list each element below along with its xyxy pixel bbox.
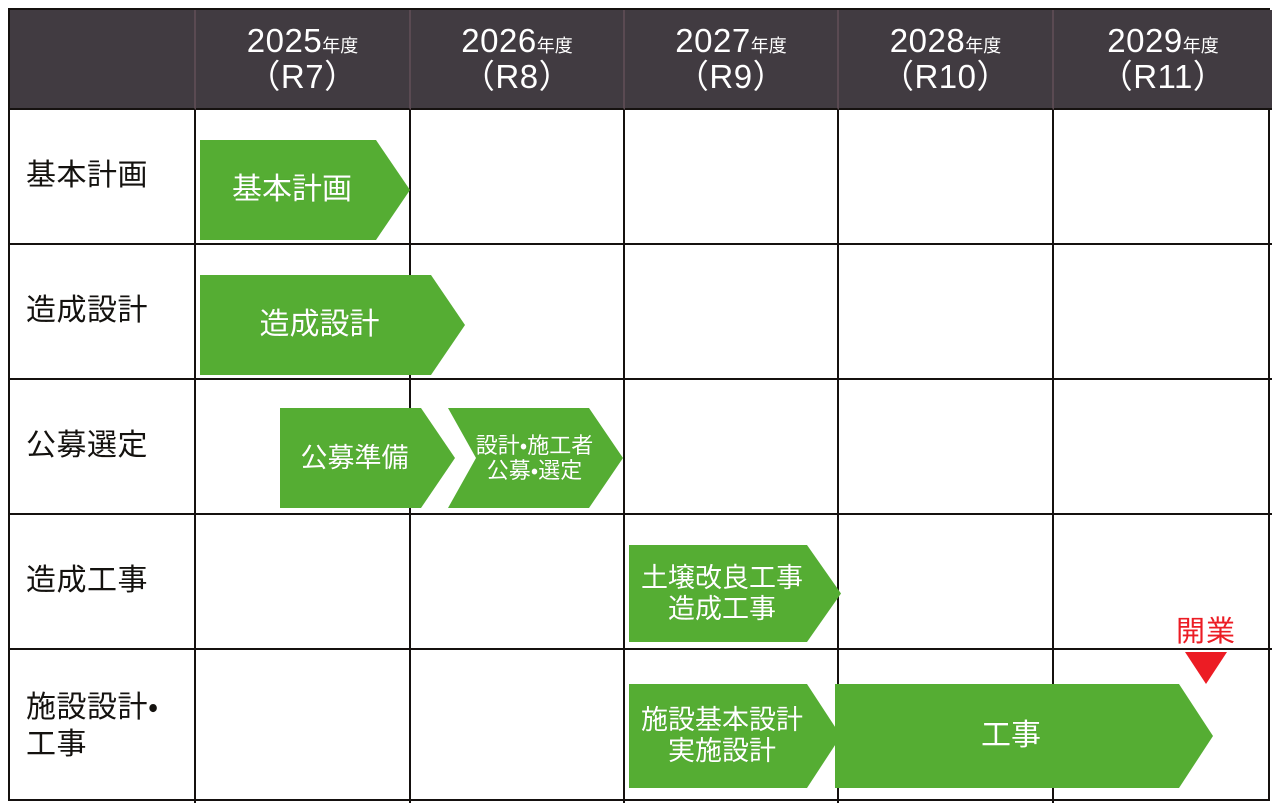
header-reiwa-r7: （R7） <box>247 60 357 95</box>
gantt-bar-label: 造成設計 <box>260 308 380 342</box>
row-label-text: 施設設計・工事 <box>26 690 159 763</box>
gantt-bar-label: 土壌改良工事造成工事 <box>641 563 803 625</box>
header-year-2028: 2028年度 <box>890 24 1001 59</box>
cell-r2-c2027 <box>625 245 839 380</box>
row-label-zosei-sekkei: 造成設計 <box>10 245 196 380</box>
cell-r4-c2028 <box>839 515 1054 650</box>
cell-r4-c2026 <box>411 515 625 650</box>
gantt-bar-dojo-kairyo-zosei-koji[interactable]: 土壌改良工事造成工事 <box>629 545 841 642</box>
row-label-text: 公募選定 <box>26 428 148 465</box>
row-label-text: 造成設計 <box>26 293 148 330</box>
cell-r5-c2025 <box>196 650 411 803</box>
row-label-zosei-koji: 造成工事 <box>10 515 196 650</box>
gantt-bar-label: 基本計画 <box>232 173 352 207</box>
cell-r5-c2026 <box>411 650 625 803</box>
header-year-2027: 2027年度 <box>675 24 786 59</box>
cell-r1-c2028 <box>839 110 1054 245</box>
header-year-2026: 2026年度 <box>461 24 572 59</box>
milestone-kaigyo[interactable]: 開業 <box>1176 618 1236 684</box>
header-year-2025: 2025年度 <box>247 24 358 59</box>
gantt-bar-label: 設計・施工者公募・選定 <box>476 433 593 483</box>
cell-r1-c2029 <box>1054 110 1272 245</box>
cell-r2-c2029 <box>1054 245 1272 380</box>
cell-r1-c2026 <box>411 110 625 245</box>
cell-r3-c2028 <box>839 380 1054 515</box>
row-label-kobo-sentei: 公募選定 <box>10 380 196 515</box>
row-label-shisetsu-sekkei-koji: 施設設計・工事 <box>10 650 196 803</box>
header-reiwa-r11: （R11） <box>1100 60 1227 95</box>
header-col-2028: 2028年度 （R10） <box>839 10 1054 110</box>
header-reiwa-r10: （R10） <box>881 60 1010 95</box>
cell-r4-c2029 <box>1054 515 1272 650</box>
cell-r1-c2027 <box>625 110 839 245</box>
gantt-bar-kihon-keikaku[interactable]: 基本計画 <box>200 140 410 240</box>
header-reiwa-r8: （R8） <box>462 60 572 95</box>
gantt-bar-koji[interactable]: 工事 <box>835 684 1213 788</box>
header-col-2025: 2025年度 （R7） <box>196 10 411 110</box>
milestone-label: 開業 <box>1176 618 1236 647</box>
gantt-bar-label: 公募準備 <box>301 443 409 474</box>
row-label-kihon-keikaku: 基本計画 <box>10 110 196 245</box>
cell-r3-c2029 <box>1054 380 1272 515</box>
row-label-text: 基本計画 <box>26 158 148 195</box>
gantt-bar-zosei-sekkei[interactable]: 造成設計 <box>200 275 465 375</box>
header-corner-cell <box>10 10 196 110</box>
header-reiwa-r9: （R9） <box>676 60 786 95</box>
schedule-table: 2025年度 （R7） 2026年度 （R8） 2027年度 （R9） 2028… <box>8 8 1270 801</box>
header-year-2029: 2029年度 <box>1107 24 1218 59</box>
schedule-grid: 2025年度 （R7） 2026年度 （R8） 2027年度 （R9） 2028… <box>8 8 1270 801</box>
gantt-bar-shisetsu-kihon-jisshi-sekkei[interactable]: 施設基本設計実施設計 <box>629 684 841 788</box>
header-col-2026: 2026年度 （R8） <box>411 10 625 110</box>
cell-r4-c2025 <box>196 515 411 650</box>
gantt-bar-label: 工事 <box>981 719 1041 753</box>
gantt-bar-label: 施設基本設計実施設計 <box>641 705 803 767</box>
gantt-bar-kobo-junbi[interactable]: 公募準備 <box>280 408 455 508</box>
row-label-text: 造成工事 <box>26 563 148 600</box>
milestone-triangle-down-icon <box>1185 652 1227 684</box>
cell-r2-c2028 <box>839 245 1054 380</box>
cell-r3-c2027 <box>625 380 839 515</box>
header-col-2027: 2027年度 （R9） <box>625 10 839 110</box>
header-col-2029: 2029年度 （R11） <box>1054 10 1272 110</box>
